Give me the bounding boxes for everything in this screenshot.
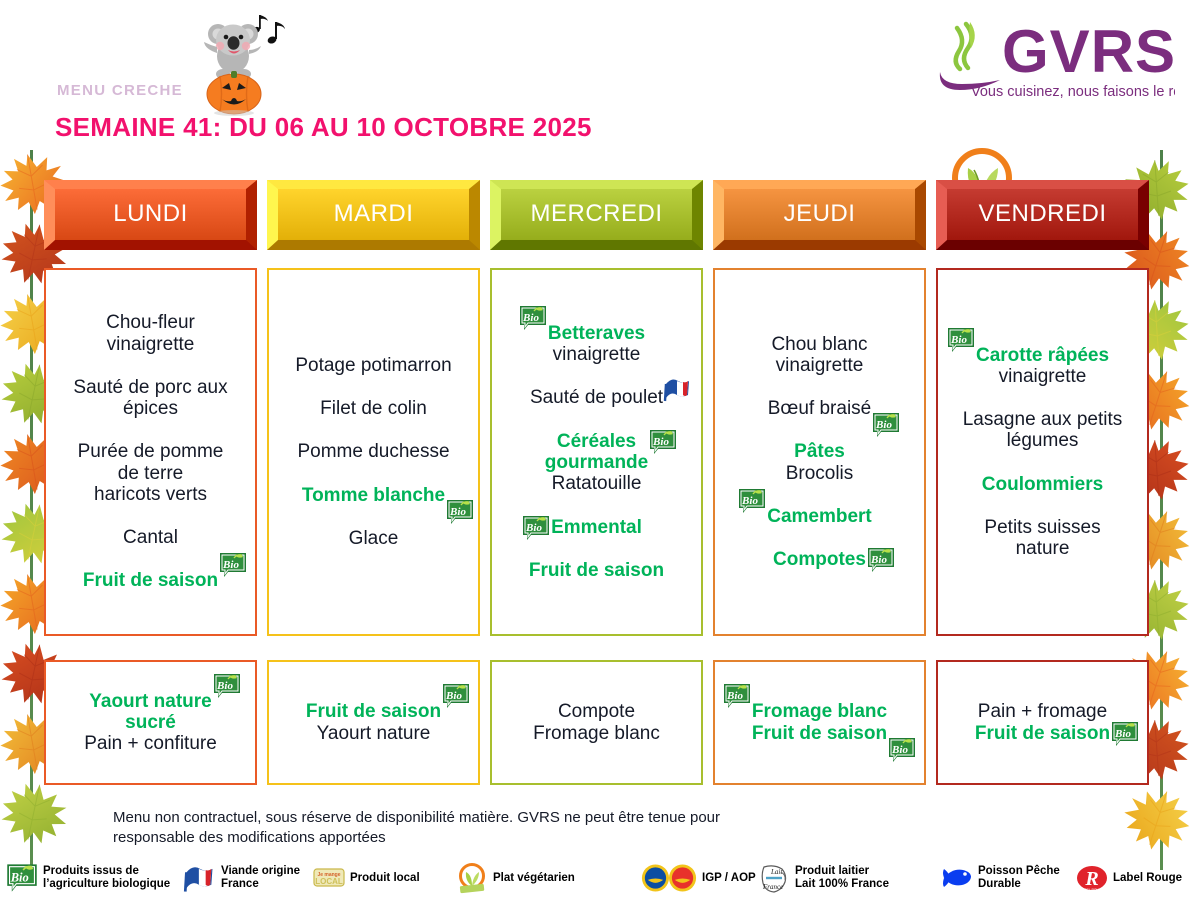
bio-label-icon: Bio (1110, 719, 1140, 749)
day-name: VENDREDI (978, 200, 1106, 228)
snack-cell-jeudi: Fromage blanc Bio Fruit de saison Bio (713, 660, 926, 785)
bio-label-icon: Bio (737, 486, 767, 516)
menu-item: Fruit de saison Bio (748, 723, 891, 744)
menu-item: Yaourt nature (313, 723, 435, 744)
french-flag-meat-icon (183, 861, 217, 895)
bio-label-icon: Bio (521, 513, 551, 543)
lunch-cell-mercredi: Betteraves Bio vinaigretteSauté de poule… (490, 268, 703, 636)
menu-item: Fromage blanc (529, 723, 664, 744)
lunch-cell-vendredi: Carotte râpées Bio vinaigretteLasagne au… (936, 268, 1149, 636)
bio-label-icon: Bio (445, 497, 475, 527)
week-title: SEMAINE 41: DU 06 AU 10 OCTOBRE 2025 (55, 112, 592, 143)
maple-leaf-icon (0, 773, 77, 859)
bio-label-icon: Bio (866, 545, 896, 575)
bio-label-icon: Bio (871, 410, 901, 440)
menu-item: Sauté de poulet (526, 387, 667, 408)
menu-item: Carotte râpées Bio (972, 345, 1113, 366)
svg-text:Bio: Bio (216, 680, 233, 692)
legend-label: Produit laitier Lait 100% France (795, 865, 889, 891)
legend-item-lait-de-france: Lait France Produit laitier Lait 100% Fr… (757, 861, 889, 895)
svg-text:Bio: Bio (891, 744, 908, 756)
menu-item: Pain + confiture (80, 733, 221, 754)
legend-item-vegetarian-leaf: Plat végétarien (455, 861, 575, 895)
menu-item: Pâtes (790, 441, 849, 462)
legend-bar: Bio Produits issus de l’agriculture biol… (0, 858, 1193, 898)
legend-item-french-flag-meat: Viande origine France (183, 861, 300, 895)
vine-decor (30, 150, 33, 870)
menu-item: Fromage blanc Bio (748, 701, 891, 722)
day-name: JEUDI (784, 200, 856, 228)
day-name: MERCREDI (530, 200, 662, 228)
menu-item: vinaigrette (995, 366, 1091, 387)
day-header-mercredi: MERCREDI (490, 180, 703, 250)
legend-label: Viande origine France (221, 865, 300, 891)
menu-item: Cantal (119, 527, 182, 548)
menu-item: Brocolis (782, 463, 858, 484)
menu-item: Chou-fleurvinaigrette (102, 312, 199, 355)
menu-item: Lasagne aux petitslégumes (959, 409, 1127, 452)
svg-text:Bio: Bio (652, 436, 669, 448)
day-header-jeudi: JEUDI (713, 180, 926, 250)
menu-item: Fruit de saison Bio (302, 701, 445, 722)
lunch-cell-jeudi: Chou blancvinaigretteBœuf braisé Bio Pât… (713, 268, 926, 636)
snack-cell-mercredi: CompoteFromage blanc (490, 660, 703, 785)
legend-label: Produit local (350, 872, 420, 885)
legend-item-je-mange-local: Je mange LOCAL Produit local (312, 861, 420, 895)
svg-text:Bio: Bio (525, 522, 542, 534)
legend-item-sustainable-fish: Poisson Pêche Durable (940, 861, 1060, 895)
legend-item-igp-aop: IGP / AOP (640, 861, 756, 895)
svg-text:Bio: Bio (726, 690, 743, 702)
svg-text:R: R (1084, 868, 1098, 890)
svg-text:Bio: Bio (741, 495, 758, 507)
svg-text:LOCAL: LOCAL (315, 877, 343, 886)
svg-text:France: France (762, 883, 783, 891)
bio-label-icon: Bio (946, 325, 976, 355)
day-header-mardi: MARDI (267, 180, 480, 250)
menu-item: Sauté de porc auxépices (69, 377, 231, 420)
menu-item: Camembert Bio (763, 506, 876, 527)
svg-text:Bio: Bio (10, 870, 29, 884)
menu-item: Pomme duchesse (293, 441, 453, 462)
svg-text:Bio: Bio (222, 559, 239, 571)
menu-item: Yaourt naturesucré Bio (85, 691, 215, 734)
snack-cell-vendredi: Pain + fromageFruit de saison Bio (936, 660, 1149, 785)
svg-text:Bio: Bio (522, 312, 539, 324)
igp-aop-icon (640, 861, 698, 895)
svg-text:Bio: Bio (1114, 728, 1131, 740)
bio-label-icon: Bio (887, 735, 917, 765)
label-rouge-icon: R LABEL ROUGE (1075, 861, 1109, 895)
disclaimer-text: Menu non contractuel, sous réserve de di… (113, 808, 733, 849)
menu-item: Chou blancvinaigrette (767, 334, 871, 377)
menu-item: Filet de colin (316, 398, 431, 419)
snack-cell-mardi: Fruit de saison Bio Yaourt nature (267, 660, 480, 785)
menu-item: Ratatouille (548, 473, 646, 494)
svg-text:LABEL ROUGE: LABEL ROUGE (1080, 888, 1105, 892)
menu-item: Purée de pommede terreharicots verts (74, 441, 228, 505)
legend-label: IGP / AOP (702, 872, 756, 885)
svg-text:Bio: Bio (445, 690, 462, 702)
menu-item: Potage potimarron (291, 355, 455, 376)
menu-item: Fruit de saison (525, 560, 668, 581)
menu-item: Glace (345, 528, 403, 549)
sustainable-fish-icon (940, 861, 974, 895)
menu-item: vinaigrette (549, 344, 645, 365)
menu-item: Fruit de saison Bio (971, 723, 1114, 744)
menu-item: Pain + fromage (974, 701, 1111, 722)
menu-item: Bœuf braisé Bio (764, 398, 875, 419)
bio-label-icon: Bio (5, 861, 39, 895)
je-mange-local-icon: Je mange LOCAL (312, 861, 346, 895)
menu-item: Compote (554, 701, 639, 722)
lunch-cell-lundi: Chou-fleurvinaigretteSauté de porc auxép… (44, 268, 257, 636)
legend-label: Label Rouge (1113, 872, 1182, 885)
menu-item: Compotes Bio (769, 549, 870, 570)
gvrs-logo: GVRS Vous cuisinez, nous faisons le rest… (930, 14, 1175, 106)
svg-text:Bio: Bio (950, 334, 967, 346)
snack-cell-lundi: Yaourt naturesucré Bio Pain + confiture (44, 660, 257, 785)
menu-type-label: MENU CRECHE (57, 82, 183, 99)
menu-item: Petits suissesnature (980, 517, 1104, 560)
bio-label-icon: Bio (441, 681, 471, 711)
legend-label: Plat végétarien (493, 872, 575, 885)
french-flag-meat-icon (663, 375, 693, 403)
vine-decor (1160, 150, 1163, 870)
koala-on-pumpkin-icon (186, 8, 290, 116)
svg-text:Bio: Bio (875, 419, 892, 431)
menu-poster: MENU CRECHE SEMAINE 41: DU 06 AU 10 OCTO… (0, 0, 1193, 897)
maple-leaf-icon (1111, 776, 1193, 867)
legend-label: Produits issus de l’agriculture biologiq… (43, 865, 170, 891)
menu-item: Coulommiers (978, 474, 1107, 495)
bio-label-icon: Bio (518, 303, 548, 333)
svg-text:Bio: Bio (449, 506, 466, 518)
menu-item: Fruit de saison Bio (79, 570, 222, 591)
day-header-lundi: LUNDI (44, 180, 257, 250)
legend-item-label-rouge: R LABEL ROUGE Label Rouge (1075, 861, 1182, 895)
legend-item-bio-label: Bio Produits issus de l’agriculture biol… (5, 861, 170, 895)
lunch-cell-mardi: Potage potimarronFilet de colinPomme duc… (267, 268, 480, 636)
svg-text:GVRS: GVRS (1002, 18, 1175, 85)
menu-item: Tomme blanche Bio (298, 485, 449, 506)
menu-item: Betteraves Bio (544, 323, 649, 344)
day-name: MARDI (334, 200, 414, 228)
bio-label-icon: Bio (648, 427, 678, 457)
legend-label: Poisson Pêche Durable (978, 865, 1060, 891)
lait-de-france-icon: Lait France (757, 861, 791, 895)
bio-label-icon: Bio (212, 671, 242, 701)
bio-label-icon: Bio (218, 550, 248, 580)
day-header-vendredi: VENDREDI (936, 180, 1149, 250)
svg-text:Bio: Bio (870, 554, 887, 566)
menu-item: Céréalesgourmande Bio (541, 431, 652, 474)
vegetarian-leaf-icon (455, 861, 489, 895)
bio-label-icon: Bio (722, 681, 752, 711)
menu-item: Emmental Bio (547, 517, 646, 538)
day-name: LUNDI (113, 200, 188, 228)
brand-tagline: Vous cuisinez, nous faisons le reste (971, 84, 1175, 100)
